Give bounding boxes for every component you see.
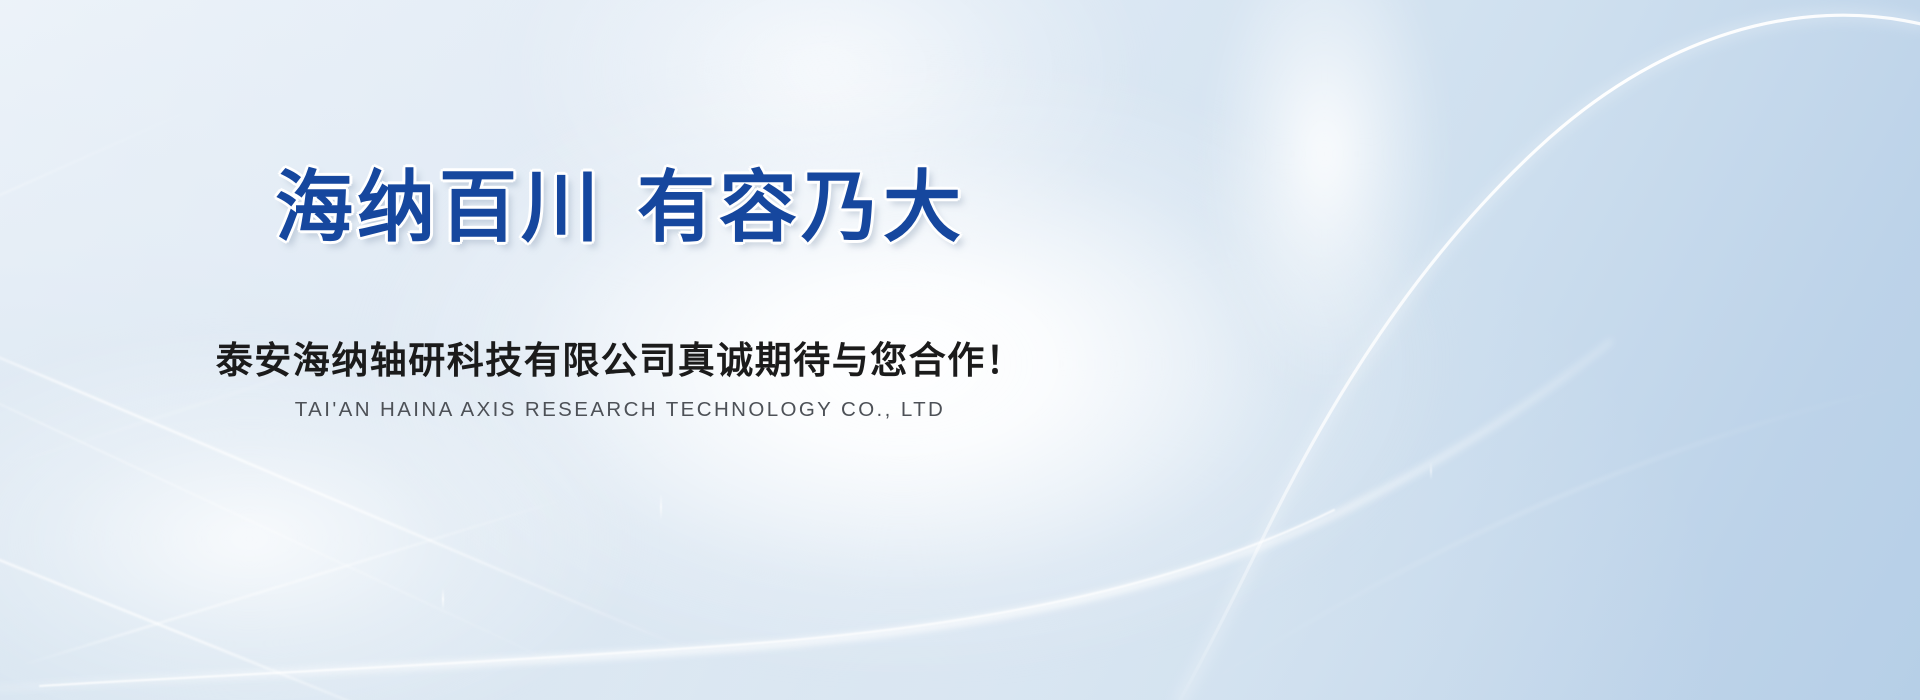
banner-headline: 海纳百川有容乃大	[275, 168, 965, 246]
banner-subtitle-en: TAI'AN HAINA AXIS RESEARCH TECHNOLOGY CO…	[295, 398, 945, 422]
hero-banner: 海纳百川有容乃大 泰安海纳轴研科技有限公司真诚期待与您合作！ TAI'AN HA…	[0, 0, 1920, 700]
headline-part-1: 海纳百川	[275, 163, 603, 251]
banner-subtitle-cn: 泰安海纳轴研科技有限公司真诚期待与您合作！	[216, 330, 1025, 384]
sparkle-fleck-3	[1430, 462, 1432, 480]
headline-part-2: 有容乃大	[637, 163, 965, 251]
banner-content: 海纳百川有容乃大 泰安海纳轴研科技有限公司真诚期待与您合作！ TAI'AN HA…	[0, 0, 1240, 700]
